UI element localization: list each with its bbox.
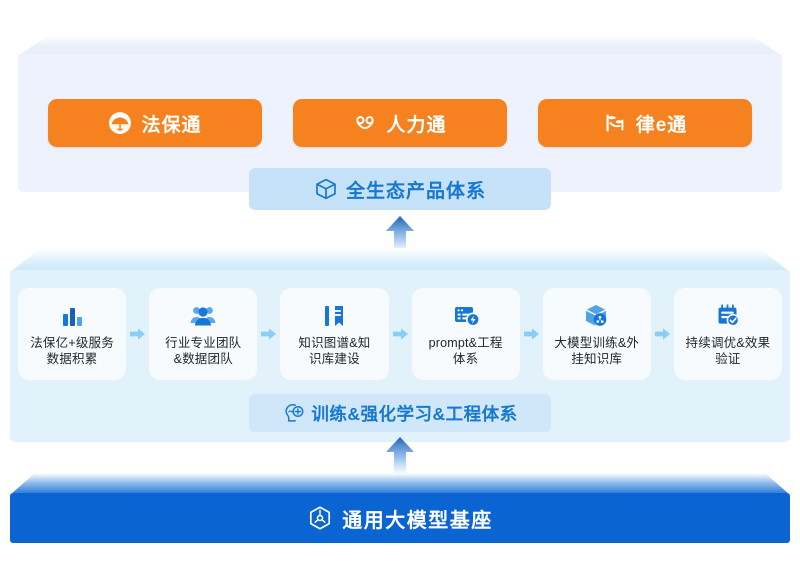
base-model-panel: 通用大模型基座 xyxy=(10,473,790,543)
product-button-label: 人力通 xyxy=(386,110,446,137)
training-tag-label: 训练&强化学习&工程体系 xyxy=(311,401,517,426)
bar-chart-icon xyxy=(57,302,87,330)
product-button-label: 法保通 xyxy=(141,110,201,137)
product-button-fabaotong[interactable]: 法保通 xyxy=(48,99,262,147)
capability-card-label: 大模型训练&外 挂知识库 xyxy=(554,335,639,367)
checklist-verify-icon xyxy=(713,302,743,330)
product-button-label: 律e通 xyxy=(636,110,688,137)
architecture-diagram: 法保通 人力通 xyxy=(0,0,800,570)
capability-card-label: 行业专业团队 &数据团队 xyxy=(165,335,241,367)
team-people-icon xyxy=(188,302,218,330)
arrow-right-icon xyxy=(129,327,146,341)
product-button-lvetong[interactable]: 律e通 xyxy=(538,99,752,147)
capability-card-label: 知识图谱&知 识库建设 xyxy=(298,335,370,367)
ecosystem-system-tag[interactable]: 全生态产品体系 xyxy=(249,168,551,210)
arrow-right-icon xyxy=(654,327,671,341)
prompt-engine-icon xyxy=(451,302,481,330)
top-panel-bevel xyxy=(18,34,782,56)
capability-card-verify[interactable]: 持续调优&效果 验证 xyxy=(674,288,782,380)
ecosystem-tag-label: 全生态产品体系 xyxy=(346,176,486,203)
capability-card-prompt[interactable]: prompt&工程 体系 xyxy=(412,288,520,380)
middle-panel-bevel xyxy=(10,248,790,272)
base-model-label: 通用大模型基座 xyxy=(342,504,493,533)
capability-card-training[interactable]: 大模型训练&外 挂知识库 xyxy=(543,288,651,380)
capability-card-label: prompt&工程 体系 xyxy=(429,335,503,367)
capability-card-label: 法保亿+级服务 数据积累 xyxy=(30,335,114,367)
capability-card-data[interactable]: 法保亿+级服务 数据积累 xyxy=(18,288,126,380)
umbrella-shield-icon xyxy=(108,111,132,135)
capability-card-row: 法保亿+级服务 数据积累 xyxy=(10,270,790,398)
capability-card-label: 持续调优&效果 验证 xyxy=(686,335,771,367)
arrow-right-icon xyxy=(392,327,409,341)
knowledge-book-icon xyxy=(319,302,349,330)
capability-card-team[interactable]: 行业专业团队 &数据团队 xyxy=(149,288,257,380)
arrow-right-icon xyxy=(260,327,277,341)
hexagon-atom-icon xyxy=(307,505,333,531)
training-system-tag[interactable]: 训练&强化学习&工程体系 xyxy=(249,394,551,432)
product-button-renlitong[interactable]: 人力通 xyxy=(293,99,507,147)
infinity-people-icon xyxy=(353,111,377,135)
base-model-label-wrap: 通用大模型基座 xyxy=(10,493,790,543)
model-cube-icon xyxy=(582,302,612,330)
capability-card-knowledge[interactable]: 知识图谱&知 识库建设 xyxy=(280,288,388,380)
bottom-panel-bevel xyxy=(10,473,790,495)
lawyer-flag-icon xyxy=(603,111,627,135)
brain-ai-icon xyxy=(282,402,304,424)
cube-icon xyxy=(314,177,338,201)
arrow-right-icon xyxy=(523,327,540,341)
